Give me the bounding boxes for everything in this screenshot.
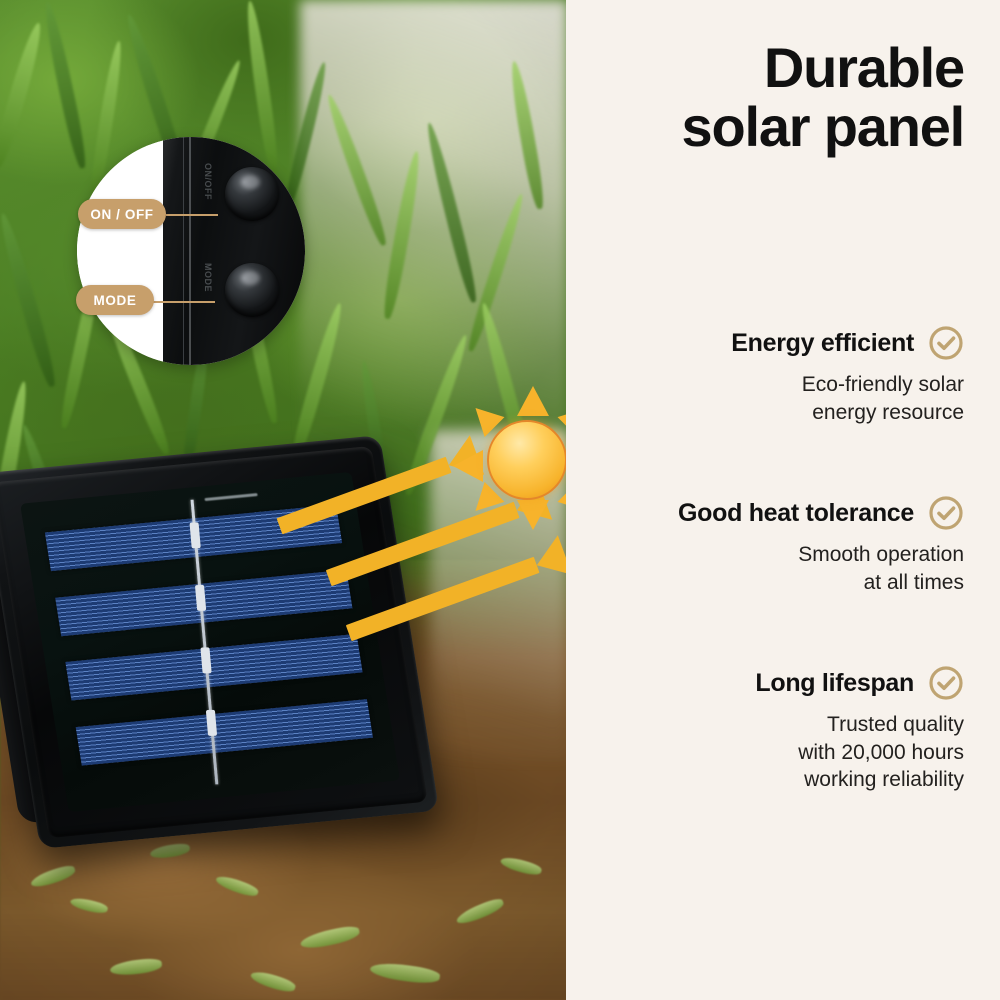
callout-leader-mode	[153, 301, 215, 303]
headline-line-1: Durable	[764, 36, 964, 99]
page-title: Durable solar panel	[584, 38, 964, 157]
feature-title: Long lifespan	[755, 669, 914, 698]
feature-title: Good heat tolerance	[678, 499, 914, 528]
check-circle-icon	[928, 325, 964, 361]
feature-desc-line: energy resource	[574, 399, 964, 427]
info-panel: Durable solar panel Energy efficient Eco…	[568, 0, 1000, 1000]
feature-desc-line: Eco-friendly solar	[574, 371, 964, 399]
feature-desc-line: at all times	[574, 569, 964, 597]
check-circle-icon	[928, 495, 964, 531]
feature-desc-line: working reliability	[574, 766, 964, 794]
feature-title: Energy efficient	[731, 329, 914, 358]
feature-description: Eco-friendly solar energy resource	[574, 371, 964, 426]
check-circle-icon	[928, 665, 964, 701]
product-photo: ON/OFF MODE ON / OFF MODE	[0, 0, 568, 1000]
headline-line-2: solar panel	[584, 97, 964, 156]
callout-leader-on-off	[166, 214, 218, 216]
feature-energy-efficient: Energy efficient Eco-friendly solar ener…	[574, 325, 964, 426]
feature-description: Smooth operation at all times	[574, 541, 964, 596]
feature-description: Trusted quality with 20,000 hours workin…	[574, 711, 964, 794]
feature-long-lifespan: Long lifespan Trusted quality with 20,00…	[574, 665, 964, 794]
callout-label-on-off-text: ON / OFF	[90, 207, 153, 222]
photo-vignette	[0, 0, 568, 1000]
feature-desc-line: Smooth operation	[574, 541, 964, 569]
callout-label-mode: MODE	[76, 285, 154, 315]
feature-desc-line: with 20,000 hours	[574, 739, 964, 767]
callout-label-on-off: ON / OFF	[78, 199, 166, 229]
marketing-banner: ON/OFF MODE ON / OFF MODE Durable solar …	[0, 0, 1000, 1000]
callout-label-mode-text: MODE	[94, 293, 137, 308]
feature-desc-line: Trusted quality	[574, 711, 964, 739]
feature-good-heat-tolerance: Good heat tolerance Smooth operation at …	[574, 495, 964, 596]
